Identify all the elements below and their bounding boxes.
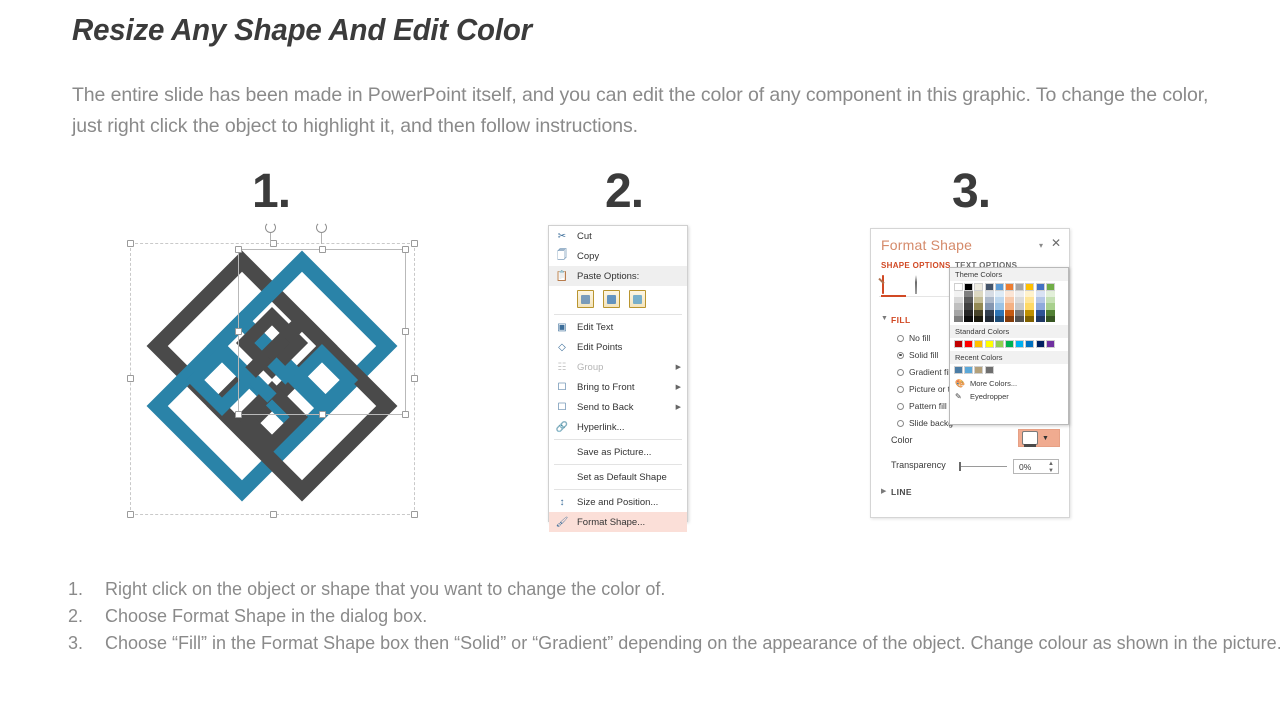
fill-option-label: Pattern fill <box>909 401 947 411</box>
more-colors-label: More Colors... <box>970 379 1017 388</box>
menu-item-copy[interactable]: 🗍 Copy <box>549 246 687 266</box>
format-shape-title: Format Shape <box>881 237 972 253</box>
theme-color-swatch[interactable] <box>985 316 994 322</box>
paste-options-row[interactable] <box>549 286 687 312</box>
fill-option-label: Slide backg <box>909 418 953 428</box>
more-colors-option[interactable]: 🎨 More Colors... <box>950 377 1068 390</box>
theme-colors-heading: Theme Colors <box>950 268 1068 281</box>
menu-item-label: Size and Position... <box>577 497 658 508</box>
radio-icon[interactable] <box>897 420 904 427</box>
theme-color-swatch[interactable] <box>974 316 983 322</box>
theme-color-swatch[interactable] <box>1025 283 1034 291</box>
transparency-value: 0% <box>1019 462 1031 472</box>
menu-item-label: Paste Options: <box>577 271 639 282</box>
page-subtitle: The entire slide has been made in PowerP… <box>72 80 1222 142</box>
menu-separator <box>554 464 682 465</box>
chevron-down-icon[interactable]: ▼ <box>881 315 888 322</box>
menu-item-label: Set as Default Shape <box>577 472 667 483</box>
fill-option-label: Gradient fil <box>909 367 950 377</box>
chevron-right-icon[interactable]: ▶ <box>881 487 886 495</box>
theme-color-swatch[interactable] <box>1005 316 1014 322</box>
inner-resize-handle-w[interactable] <box>235 328 242 335</box>
step-number-1: 1. <box>252 168 290 216</box>
menu-item-label: Edit Text <box>577 322 613 333</box>
chevron-down-icon[interactable]: ▼ <box>1042 435 1049 442</box>
theme-color-column[interactable] <box>995 283 1004 322</box>
page-title: Resize Any Shape And Edit Color <box>72 12 532 48</box>
list-item: 1. Right click on the object or shape th… <box>68 576 1280 602</box>
inner-resize-handle-s[interactable] <box>319 411 326 418</box>
instructions-list: 1. Right click on the object or shape th… <box>68 576 1280 657</box>
standard-colors-row[interactable] <box>950 338 1068 351</box>
menu-item-label: Send to Back <box>577 402 634 413</box>
menu-item-label: Hyperlink... <box>577 422 625 433</box>
resize-handle-nw[interactable] <box>127 240 134 247</box>
hyperlink-icon: 🔗 <box>555 420 569 434</box>
menu-item-paste-options[interactable]: 📋 Paste Options: <box>549 266 687 286</box>
format-shape-icon: 🖌 <box>555 515 569 529</box>
menu-item-label: Group <box>577 362 603 373</box>
inner-resize-handle-se[interactable] <box>402 411 409 418</box>
paint-bucket-icon <box>1022 431 1038 445</box>
resize-handle-ne[interactable] <box>411 240 418 247</box>
menu-item-size-and-position[interactable]: ↕ Size and Position... <box>549 492 687 512</box>
context-menu[interactable]: ✂ Cut 🗍 Copy 📋 Paste Options: ▣ Edit Tex… <box>548 225 688 522</box>
menu-item-edit-points[interactable]: ◇ Edit Points <box>549 337 687 357</box>
group-icon: ☷ <box>555 360 569 374</box>
size-position-icon: ↕ <box>555 495 569 509</box>
theme-color-column[interactable] <box>1015 283 1024 322</box>
eyedropper-option[interactable]: ✎ Eyedropper <box>950 390 1068 403</box>
theme-colors-grid[interactable] <box>950 281 1068 322</box>
theme-color-swatch[interactable] <box>1025 316 1034 322</box>
menu-separator <box>554 489 682 490</box>
fill-option-label: No fill <box>909 333 930 343</box>
theme-color-column[interactable] <box>974 283 983 322</box>
radio-icon[interactable] <box>897 369 904 376</box>
edit-points-icon: ◇ <box>555 340 569 354</box>
menu-item-label: Copy <box>577 251 599 262</box>
spinner-arrows-icon[interactable]: ▲▼ <box>1048 461 1054 474</box>
radio-icon[interactable] <box>897 403 904 410</box>
menu-item-set-default-shape[interactable]: Set as Default Shape <box>549 467 687 487</box>
menu-item-cut[interactable]: ✂ Cut <box>549 226 687 246</box>
menu-item-format-shape[interactable]: 🖌 Format Shape... <box>549 512 687 532</box>
menu-item-group[interactable]: ☷ Group ▶ <box>549 357 687 377</box>
theme-color-swatch[interactable] <box>954 283 963 291</box>
transparency-value-input[interactable]: 0% ▲▼ <box>1013 459 1059 474</box>
effects-icon[interactable] <box>915 273 935 293</box>
list-item-text: Choose “Fill” in the Format Shape box th… <box>105 630 1280 656</box>
standard-color-swatch[interactable] <box>1005 340 1014 348</box>
chevron-right-icon: ▶ <box>676 403 681 411</box>
rotate-stem-inner <box>321 232 322 244</box>
color-picker-button[interactable]: ▼ <box>1018 429 1060 447</box>
recent-color-swatch[interactable] <box>954 366 963 374</box>
eyedropper-icon: ✎ <box>955 392 962 401</box>
menu-item-label: Cut <box>577 231 592 242</box>
step-number-3: 3. <box>952 168 990 216</box>
shape-graphic-panel[interactable] <box>122 228 422 526</box>
tab-shape-options[interactable]: SHAPE OPTIONS <box>881 261 951 270</box>
section-fill-header[interactable]: FILL <box>891 315 911 325</box>
color-picker-dropdown[interactable]: Theme Colors Standard Colors Recent Colo… <box>949 267 1069 425</box>
list-item-number: 2. <box>68 603 105 629</box>
menu-item-edit-text[interactable]: ▣ Edit Text <box>549 317 687 337</box>
radio-icon[interactable] <box>897 335 904 342</box>
menu-separator <box>554 439 682 440</box>
menu-item-label: Bring to Front <box>577 382 635 393</box>
resize-handle-w[interactable] <box>127 375 134 382</box>
menu-separator <box>554 314 682 315</box>
theme-color-swatch[interactable] <box>964 316 973 322</box>
inner-resize-handle-n[interactable] <box>319 246 326 253</box>
theme-color-column[interactable] <box>985 283 994 322</box>
fill-line-icon[interactable] <box>881 273 901 293</box>
resize-handle-se[interactable] <box>411 511 418 518</box>
menu-item-bring-to-front[interactable]: ☐ Bring to Front ▶ <box>549 377 687 397</box>
step-number-2: 2. <box>605 168 643 216</box>
theme-color-column[interactable] <box>964 283 973 322</box>
standard-colors-heading: Standard Colors <box>950 325 1068 338</box>
fill-option-no-fill[interactable]: No fill <box>897 333 930 343</box>
theme-color-column[interactable] <box>1046 283 1055 322</box>
standard-color-swatch[interactable] <box>1036 340 1045 348</box>
theme-color-swatch[interactable] <box>1046 316 1055 322</box>
list-item-number: 3. <box>68 630 105 656</box>
theme-color-column[interactable] <box>1036 283 1045 322</box>
transparency-slider[interactable] <box>961 466 1007 467</box>
recent-color-swatch[interactable] <box>964 366 973 374</box>
resize-handle-s[interactable] <box>270 511 277 518</box>
paste-keep-formatting-icon[interactable] <box>603 290 620 308</box>
radio-icon-selected[interactable] <box>897 352 904 359</box>
theme-color-swatch[interactable] <box>995 283 1004 291</box>
rotate-stem-outer <box>270 232 271 244</box>
list-item-text: Choose Format Shape in the dialog box. <box>105 603 1280 629</box>
selection-bounding-box-inner[interactable] <box>238 249 406 415</box>
inner-resize-handle-ne[interactable] <box>402 246 409 253</box>
list-item-text: Right click on the object or shape that … <box>105 576 1280 602</box>
menu-item-label: Format Shape... <box>577 517 645 528</box>
rotate-handle-inner[interactable] <box>316 222 327 233</box>
chevron-down-icon[interactable]: ▾ <box>1039 241 1043 250</box>
radio-icon[interactable] <box>897 386 904 393</box>
fill-option-slide-background-fill[interactable]: Slide backg <box>897 418 953 428</box>
fill-option-picture-texture-fill[interactable]: Picture or t <box>897 384 950 394</box>
color-label: Color <box>891 435 913 445</box>
fill-option-pattern-fill[interactable]: Pattern fill <box>897 401 947 411</box>
theme-color-swatch[interactable] <box>1015 283 1024 291</box>
recent-colors-heading: Recent Colors <box>950 351 1068 364</box>
inner-resize-handle-sw[interactable] <box>235 411 242 418</box>
paste-picture-icon[interactable] <box>629 290 646 308</box>
standard-color-swatch[interactable] <box>954 340 963 348</box>
theme-color-swatch[interactable] <box>974 283 983 291</box>
theme-color-swatch[interactable] <box>985 283 994 291</box>
inner-resize-handle-e[interactable] <box>402 328 409 335</box>
fill-option-label: Solid fill <box>909 350 938 360</box>
theme-color-swatch[interactable] <box>1005 283 1014 291</box>
palette-icon: 🎨 <box>955 379 965 388</box>
standard-color-swatch[interactable] <box>964 340 973 348</box>
standard-color-swatch[interactable] <box>1025 340 1034 348</box>
chevron-right-icon: ▶ <box>676 363 681 371</box>
theme-color-swatch[interactable] <box>954 316 963 322</box>
list-item: 2. Choose Format Shape in the dialog box… <box>68 603 1280 629</box>
list-item: 3. Choose “Fill” in the Format Shape box… <box>68 630 1280 656</box>
list-item-number: 1. <box>68 576 105 602</box>
rotate-handle-outer[interactable] <box>265 222 276 233</box>
theme-color-swatch[interactable] <box>1015 316 1024 322</box>
clipboard-icon: 📋 <box>555 269 569 283</box>
theme-color-swatch[interactable] <box>995 316 1004 322</box>
paste-keep-text-icon[interactable] <box>577 290 594 308</box>
fill-option-gradient-fill[interactable]: Gradient fil <box>897 367 950 377</box>
scissors-icon: ✂ <box>555 229 569 243</box>
theme-color-column[interactable] <box>1005 283 1014 322</box>
edit-text-icon: ▣ <box>555 320 569 334</box>
menu-item-label: Edit Points <box>577 342 622 353</box>
standard-color-swatch[interactable] <box>974 340 983 348</box>
inner-resize-handle-nw[interactable] <box>235 246 242 253</box>
standard-color-swatch[interactable] <box>995 340 1004 348</box>
theme-color-column[interactable] <box>1025 283 1034 322</box>
fill-option-solid-fill[interactable]: Solid fill <box>897 350 938 360</box>
copy-icon: 🗍 <box>555 249 569 263</box>
fill-option-label: Picture or t <box>909 384 950 394</box>
active-tab-underline <box>881 295 906 297</box>
standard-color-swatch[interactable] <box>985 340 994 348</box>
theme-color-swatch[interactable] <box>1036 283 1045 291</box>
resize-handle-n[interactable] <box>270 240 277 247</box>
eyedropper-label: Eyedropper <box>970 392 1009 401</box>
recent-color-swatch[interactable] <box>974 366 983 374</box>
resize-handle-e[interactable] <box>411 375 418 382</box>
resize-handle-sw[interactable] <box>127 511 134 518</box>
section-line-header[interactable]: LINE <box>891 487 912 497</box>
menu-item-save-as-picture[interactable]: Save as Picture... <box>549 442 687 462</box>
recent-colors-row[interactable] <box>950 364 1068 377</box>
standard-color-swatch[interactable] <box>1015 340 1024 348</box>
send-back-icon: ☐ <box>555 400 569 414</box>
theme-color-column[interactable] <box>954 283 963 322</box>
theme-color-swatch[interactable] <box>964 283 973 291</box>
menu-item-label: Save as Picture... <box>577 447 651 458</box>
slide-canvas: Resize Any Shape And Edit Color The enti… <box>0 0 1280 720</box>
transparency-label: Transparency <box>891 460 946 470</box>
bring-front-icon: ☐ <box>555 380 569 394</box>
recent-color-swatch[interactable] <box>985 366 994 374</box>
chevron-right-icon: ▶ <box>676 383 681 391</box>
menu-item-hyperlink[interactable]: 🔗 Hyperlink... <box>549 417 687 437</box>
theme-color-swatch[interactable] <box>1046 283 1055 291</box>
close-icon[interactable]: ✕ <box>1051 237 1061 249</box>
theme-color-swatch[interactable] <box>1036 316 1045 322</box>
standard-color-swatch[interactable] <box>1046 340 1055 348</box>
menu-item-send-to-back[interactable]: ☐ Send to Back ▶ <box>549 397 687 417</box>
